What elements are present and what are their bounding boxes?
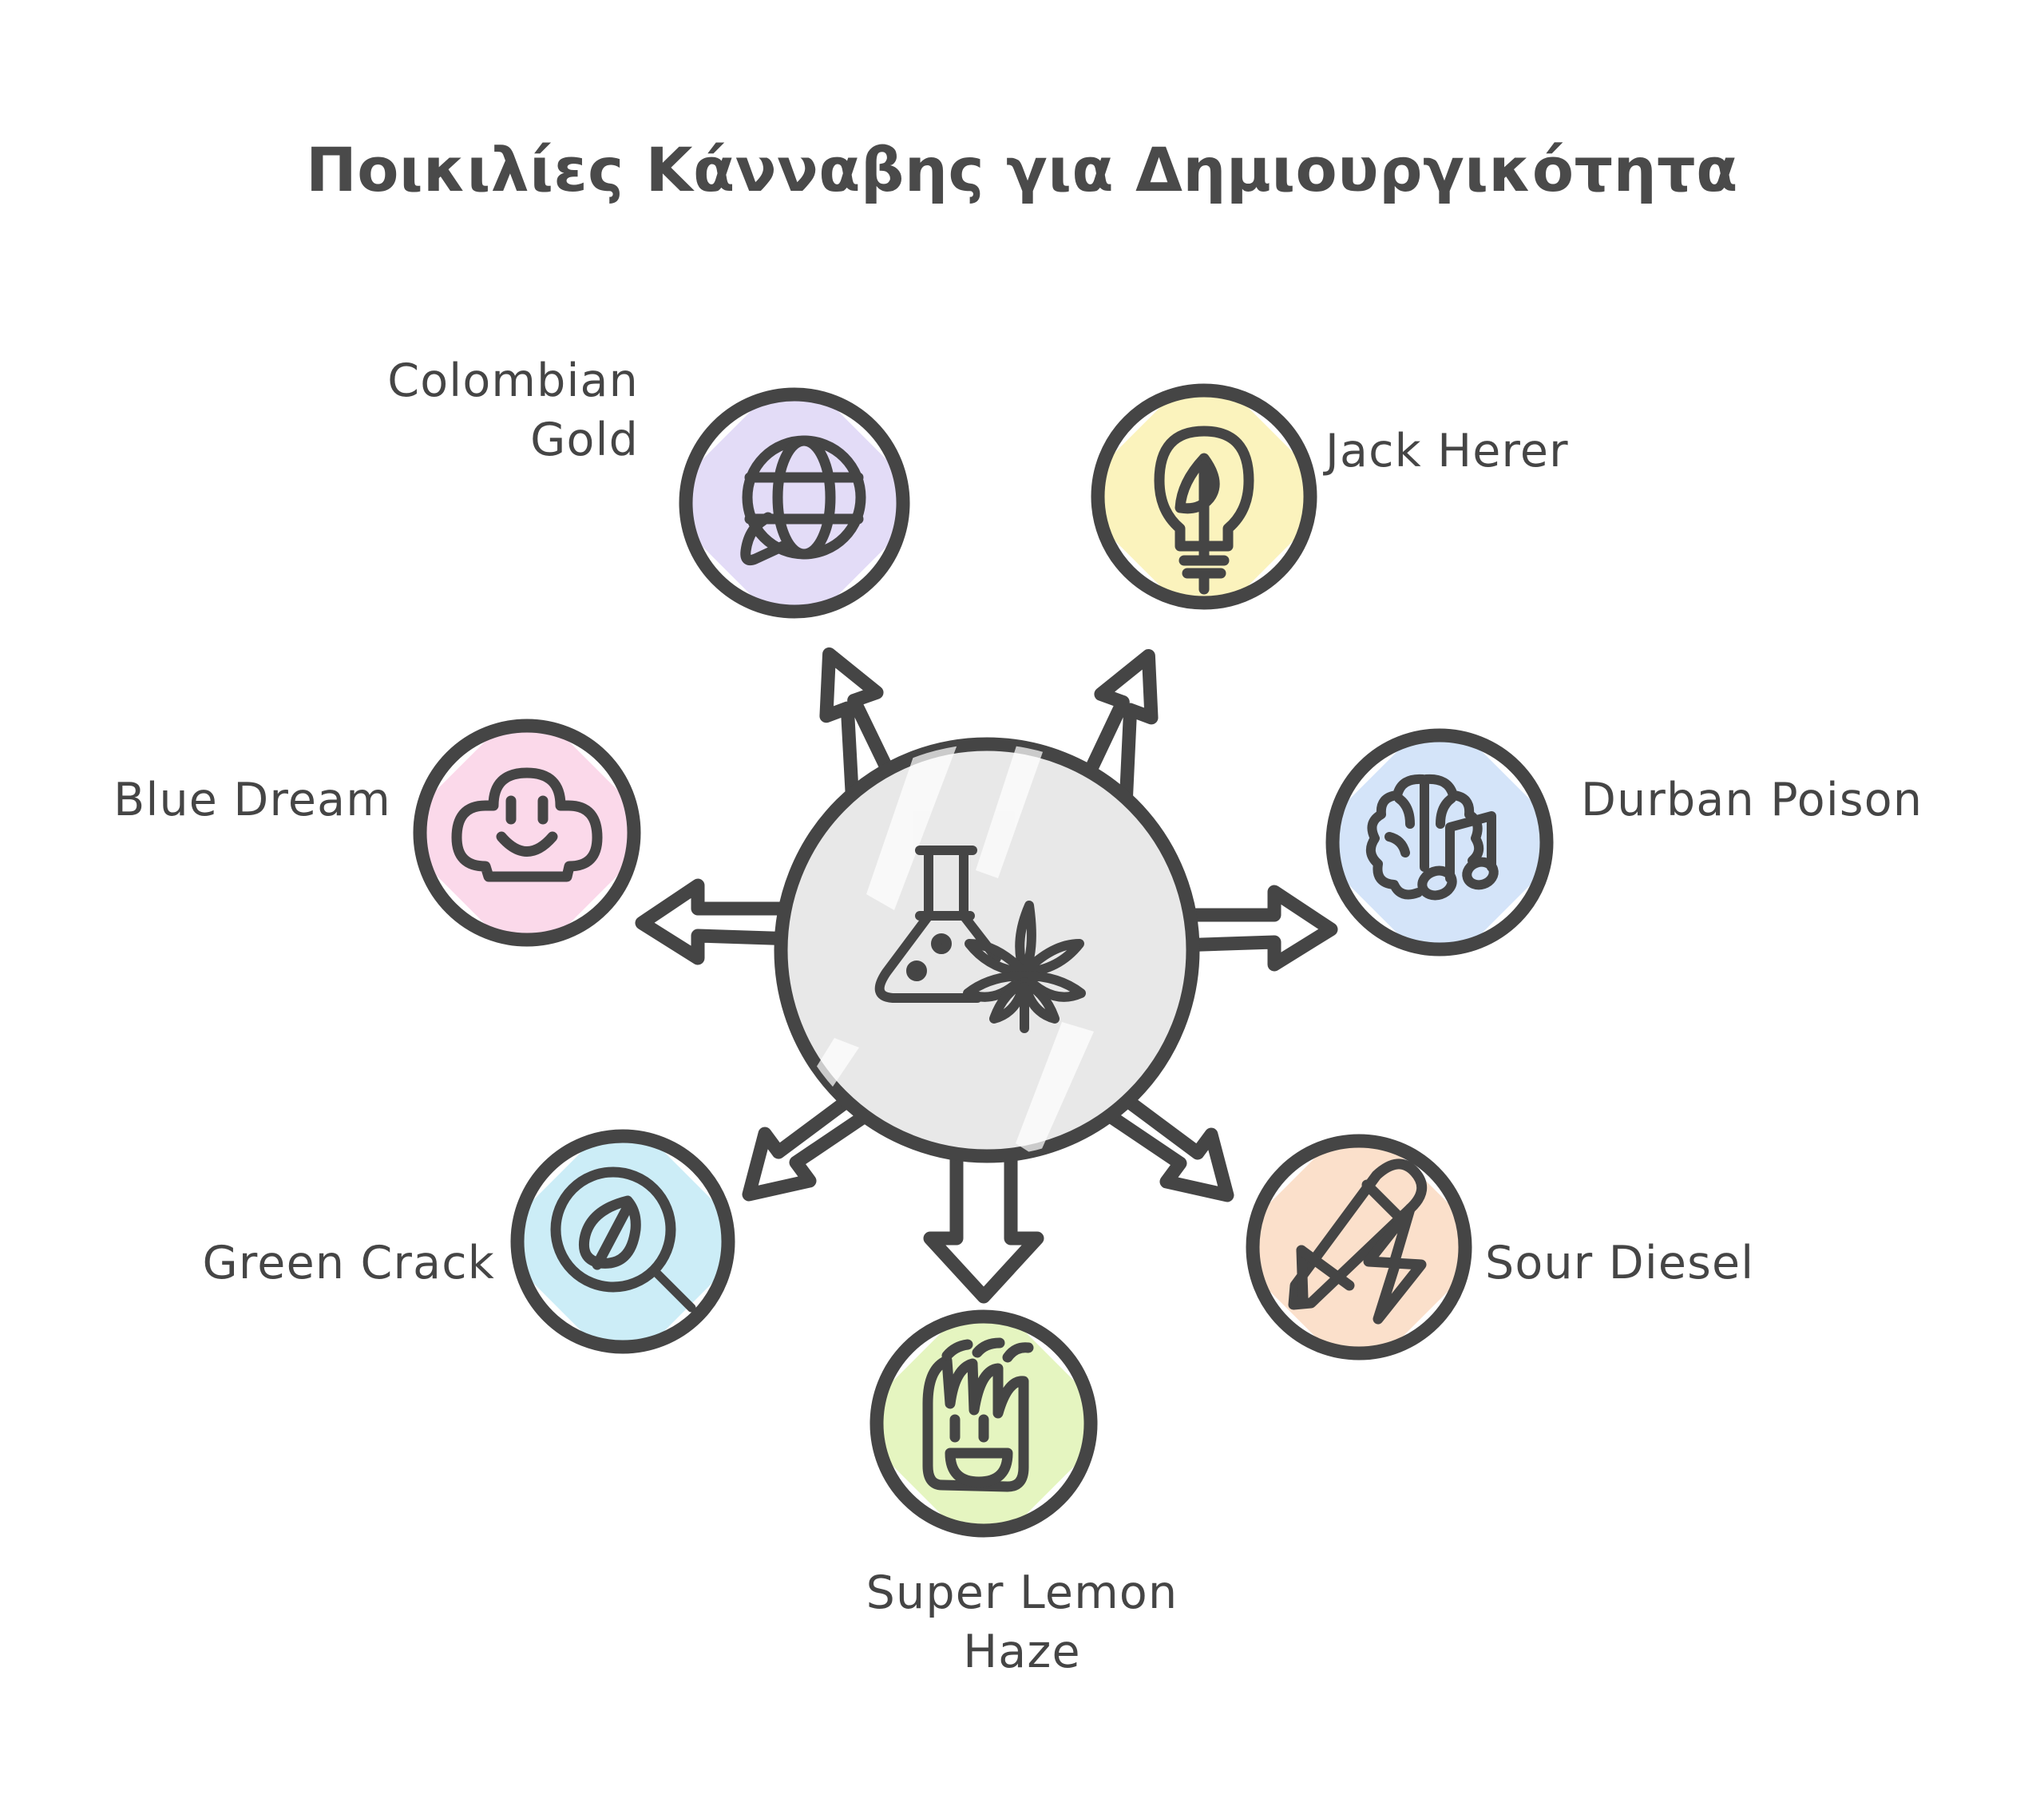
node-label-blue-dream: Blue Dream bbox=[16, 770, 391, 830]
node-colombian-gold[interactable] bbox=[659, 367, 929, 638]
hub-group bbox=[642, 650, 1331, 1297]
node-label-sour-diesel: Sour Diesel bbox=[1485, 1234, 2044, 1293]
node-label-colombian-gold: Colombian Gold bbox=[144, 351, 639, 469]
node-label-durban-poison: Durban Poison bbox=[1581, 770, 2044, 830]
arrow-right bbox=[1178, 892, 1331, 964]
node-sour-diesel[interactable] bbox=[1226, 1114, 1492, 1380]
node-label-green-crack: Green Crack bbox=[48, 1234, 495, 1293]
node-label-super-lemon-haze: Super Lemon Haze bbox=[743, 1563, 1301, 1681]
node-label-jack-herer: Jack Herer bbox=[1325, 422, 1932, 481]
node-blue-dream[interactable] bbox=[394, 699, 660, 966]
radial-diagram bbox=[0, 0, 2044, 1810]
arrow-down-right bbox=[1107, 1099, 1227, 1195]
node-super-lemon-haze[interactable] bbox=[850, 1290, 1117, 1557]
node-durban-poison[interactable] bbox=[1306, 709, 1573, 976]
node-green-crack[interactable] bbox=[492, 1111, 754, 1372]
arrow-left bbox=[642, 885, 795, 958]
infographic-canvas: Ποικιλίες Κάνναβης για Δημιουργικότητα bbox=[0, 0, 2044, 1810]
node-jack-herer[interactable] bbox=[1071, 363, 1337, 630]
